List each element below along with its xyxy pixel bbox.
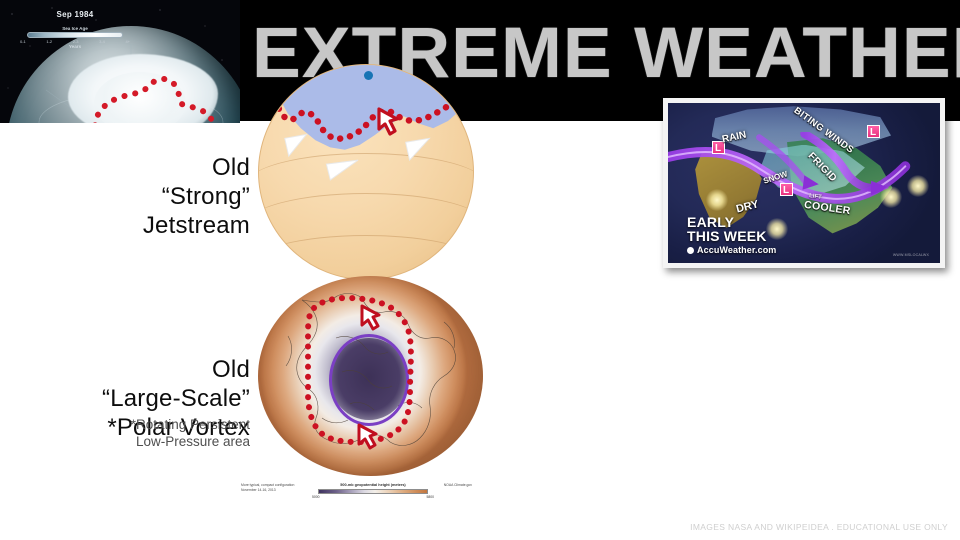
vortex-colorbar-title: 500-mb geopotential height (meters) bbox=[318, 483, 428, 487]
vortex-sphere bbox=[258, 276, 483, 476]
cursor-arrow-icon-top bbox=[357, 304, 385, 334]
sea-ice-date-label: Sep 1984 bbox=[0, 10, 150, 19]
jetstream-sphere bbox=[258, 64, 474, 280]
forecast-period-line2: THIS WEEK bbox=[687, 229, 767, 243]
jetstream-caption-line3: Jetstream bbox=[30, 211, 250, 240]
accuweather-map-card: L L L RAIN BITING WINDS FRIGID SNOW DRY … bbox=[663, 98, 945, 268]
polar-vortex-globe-diagram bbox=[258, 276, 483, 476]
polar-vortex-footnote-line2: Low-Pressure area bbox=[20, 434, 250, 451]
sea-ice-colorbar bbox=[27, 32, 123, 38]
forecast-period-line1: EARLY bbox=[687, 215, 767, 229]
jetstream-caption: Old “Strong” Jetstream bbox=[30, 153, 250, 240]
forecast-period-label: EARLY THIS WEEK bbox=[687, 215, 767, 243]
nasa-sea-ice-image: Sep 1984 Sea Ice Age 0-1 1-2 2-3 3-4 4+ … bbox=[0, 0, 240, 123]
accuweather-map: L L L RAIN BITING WINDS FRIGID SNOW DRY … bbox=[668, 103, 940, 263]
polar-vortex-footnote: *Rotating Persistent Low-Pressure area bbox=[20, 417, 250, 450]
vortex-colorbar-max: 5800 bbox=[426, 495, 434, 499]
jetstream-dotted-path bbox=[259, 65, 473, 279]
cursor-arrow-icon bbox=[373, 107, 403, 139]
accuweather-brand: AccuWeather.com bbox=[687, 245, 776, 255]
sea-ice-colorbar-units: Years bbox=[0, 44, 150, 49]
map-watermark: WWW.MSLOCALWX bbox=[893, 253, 929, 257]
jetstream-caption-line2: “Strong” bbox=[30, 182, 250, 211]
cursor-arrow-icon-bottom bbox=[354, 423, 382, 453]
low-pressure-marker-east: L bbox=[867, 125, 880, 138]
vortex-colorbar-min: 5000 bbox=[312, 495, 320, 499]
vortex-colorbar bbox=[318, 489, 428, 494]
vortex-figure-caption-left: More typical, compact configuration Nove… bbox=[241, 483, 321, 492]
vortex-caption-line2: November 14-16, 2013 bbox=[241, 488, 321, 493]
sun-icon-2 bbox=[766, 218, 788, 240]
polar-vortex-caption-line2: “Large-Scale” bbox=[20, 384, 250, 413]
accuweather-brand-text: AccuWeather.com bbox=[697, 245, 776, 255]
vortex-figure-source: NOAA Climate.gov bbox=[424, 483, 472, 488]
jetstream-caption-line1: Old bbox=[30, 153, 250, 182]
jetstream-globe-diagram bbox=[258, 86, 474, 272]
polar-vortex-caption-line1: Old bbox=[20, 355, 250, 384]
image-credit: IMAGES NASA AND WIKIPEIDEA . EDUCATIONAL… bbox=[690, 522, 948, 532]
polar-vortex-footnote-line1: *Rotating Persistent bbox=[20, 417, 250, 434]
sea-ice-colorbar-title: Sea Ice Age bbox=[0, 26, 150, 31]
vortex-colorbar-ticks: 5000 5800 bbox=[312, 495, 434, 499]
low-pressure-marker-central: L bbox=[780, 183, 793, 196]
slide-canvas: EXTREME WEATHER Sep 1984 Sea bbox=[0, 0, 960, 540]
accuweather-logo-icon bbox=[687, 247, 694, 254]
